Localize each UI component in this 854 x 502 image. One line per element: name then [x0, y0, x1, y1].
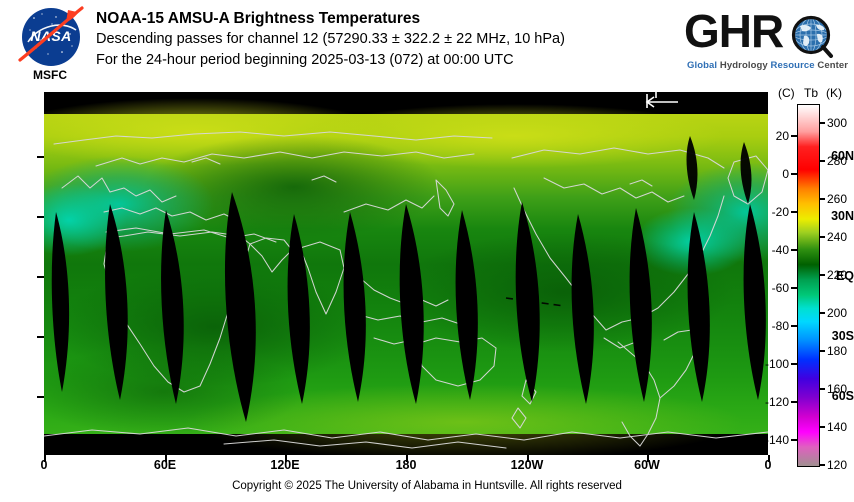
- lat-tick-30n: [37, 216, 44, 218]
- page-header: NASA MSFC NOAA-15 AMSU-A Brightness Temp…: [0, 0, 854, 92]
- lon-label-180: 180: [385, 459, 427, 471]
- nasa-red-swoosh-icon: [16, 4, 86, 68]
- colorbar-tick-c--140: [791, 439, 797, 441]
- colorbar-label-k-120: 120: [827, 459, 847, 471]
- colorbar-tick-c--40: [791, 249, 797, 251]
- page-title: NOAA-15 AMSU-A Brightness Temperatures: [96, 9, 676, 29]
- map-data-field: [44, 92, 768, 455]
- lat-label-30s: 30S: [818, 330, 854, 342]
- colorbar-label-c--120: -120: [755, 396, 789, 408]
- colorbar-label-k-300: 300: [827, 117, 847, 129]
- colorbar-tick-c--80: [791, 325, 797, 327]
- colorbar-tick-k-140: [819, 426, 825, 428]
- brightness-temperature-map[interactable]: [44, 92, 768, 455]
- colorbar-label-c-20: 20: [755, 130, 789, 142]
- nasa-center-label: MSFC: [14, 68, 86, 82]
- ghrc-acronym: GHR: [684, 8, 783, 54]
- lat-tick-60n: [37, 156, 44, 158]
- colorbar-tick-k-120: [819, 464, 825, 466]
- colorbar-tick-k-220: [819, 274, 825, 276]
- colorbar[interactable]: [797, 104, 820, 467]
- colorbar-tick-k-300: [819, 122, 825, 124]
- colorbar-label-k-180: 180: [827, 345, 847, 357]
- lat-tick-eq: [37, 276, 44, 278]
- colorbar-variable: Tb: [804, 86, 818, 100]
- colorbar-tick-k-280: [819, 160, 825, 162]
- colorbar-label-k-240: 240: [827, 231, 847, 243]
- colorbar-label-k-260: 260: [827, 193, 847, 205]
- colorbar-label-c--20: -20: [755, 206, 789, 218]
- title-subtitle-channel: Descending passes for channel 12 (57290.…: [96, 29, 676, 50]
- colorbar-tick-c--100: [791, 363, 797, 365]
- colorbar-label-k-160: 160: [827, 383, 847, 395]
- lon-label-120e: 120E: [262, 459, 308, 471]
- colorbar-label-c--140: -140: [755, 434, 789, 446]
- colorbar-label-c--100: -100: [755, 358, 789, 370]
- colorbar-label-c--60: -60: [755, 282, 789, 294]
- ghrc-tagline: Global Hydrology Resource Center: [687, 60, 848, 71]
- colorbar-label-k-280: 280: [827, 155, 847, 167]
- lat-tick-60s: [37, 396, 44, 398]
- lon-label-120w: 120W: [503, 459, 551, 471]
- title-subtitle-period: For the 24-hour period beginning 2025-03…: [96, 50, 676, 71]
- ghrc-tag-hydrology: Hydrology: [720, 60, 771, 71]
- colorbar-tick-c--60: [791, 287, 797, 289]
- title-block: NOAA-15 AMSU-A Brightness Temperatures D…: [96, 9, 676, 71]
- ghrc-tag-global: Global: [687, 60, 720, 71]
- lon-label-60e: 60E: [145, 459, 185, 471]
- colorbar-tick-k-240: [819, 236, 825, 238]
- colorbar-tick-c-20: [791, 135, 797, 137]
- colorbar-tick-c--20: [791, 211, 797, 213]
- colorbar-tick-c-0: [791, 173, 797, 175]
- lon-label-0: 0: [24, 459, 64, 471]
- colorbar-label-c-0: 0: [755, 168, 789, 180]
- colorbar-unit-celsius: (C): [778, 86, 795, 100]
- colorbar-unit-kelvin: (K): [826, 86, 842, 100]
- globe-icon: [790, 14, 834, 58]
- ghrc-tag-resource: Resource: [771, 60, 818, 71]
- colorbar-tick-k-160: [819, 388, 825, 390]
- colorbar-tick-k-200: [819, 312, 825, 314]
- colorbar-gradient: [798, 105, 819, 466]
- ghrc-logo: GHR Global Hydrology Resource Center: [684, 8, 844, 80]
- nasa-msfc-logo: NASA MSFC: [14, 6, 86, 86]
- colorbar-tick-k-260: [819, 198, 825, 200]
- colorbar-tick-k-180: [819, 350, 825, 352]
- ghrc-tag-center: Center: [817, 60, 848, 71]
- colorbar-label-k-200: 200: [827, 307, 847, 319]
- lon-label-360: 0: [748, 459, 788, 471]
- colorbar-tick-c--120: [791, 401, 797, 403]
- copyright-notice: Copyright © 2025 The University of Alaba…: [0, 480, 854, 492]
- lat-label-30n: 30N: [818, 210, 854, 222]
- colorbar-label-k-140: 140: [827, 421, 847, 433]
- colorbar-label-c--40: -40: [755, 244, 789, 256]
- lon-label-60w: 60W: [626, 459, 668, 471]
- colorbar-label-c--80: -80: [755, 320, 789, 332]
- lat-tick-30s: [37, 336, 44, 338]
- colorbar-label-k-220: 220: [827, 269, 847, 281]
